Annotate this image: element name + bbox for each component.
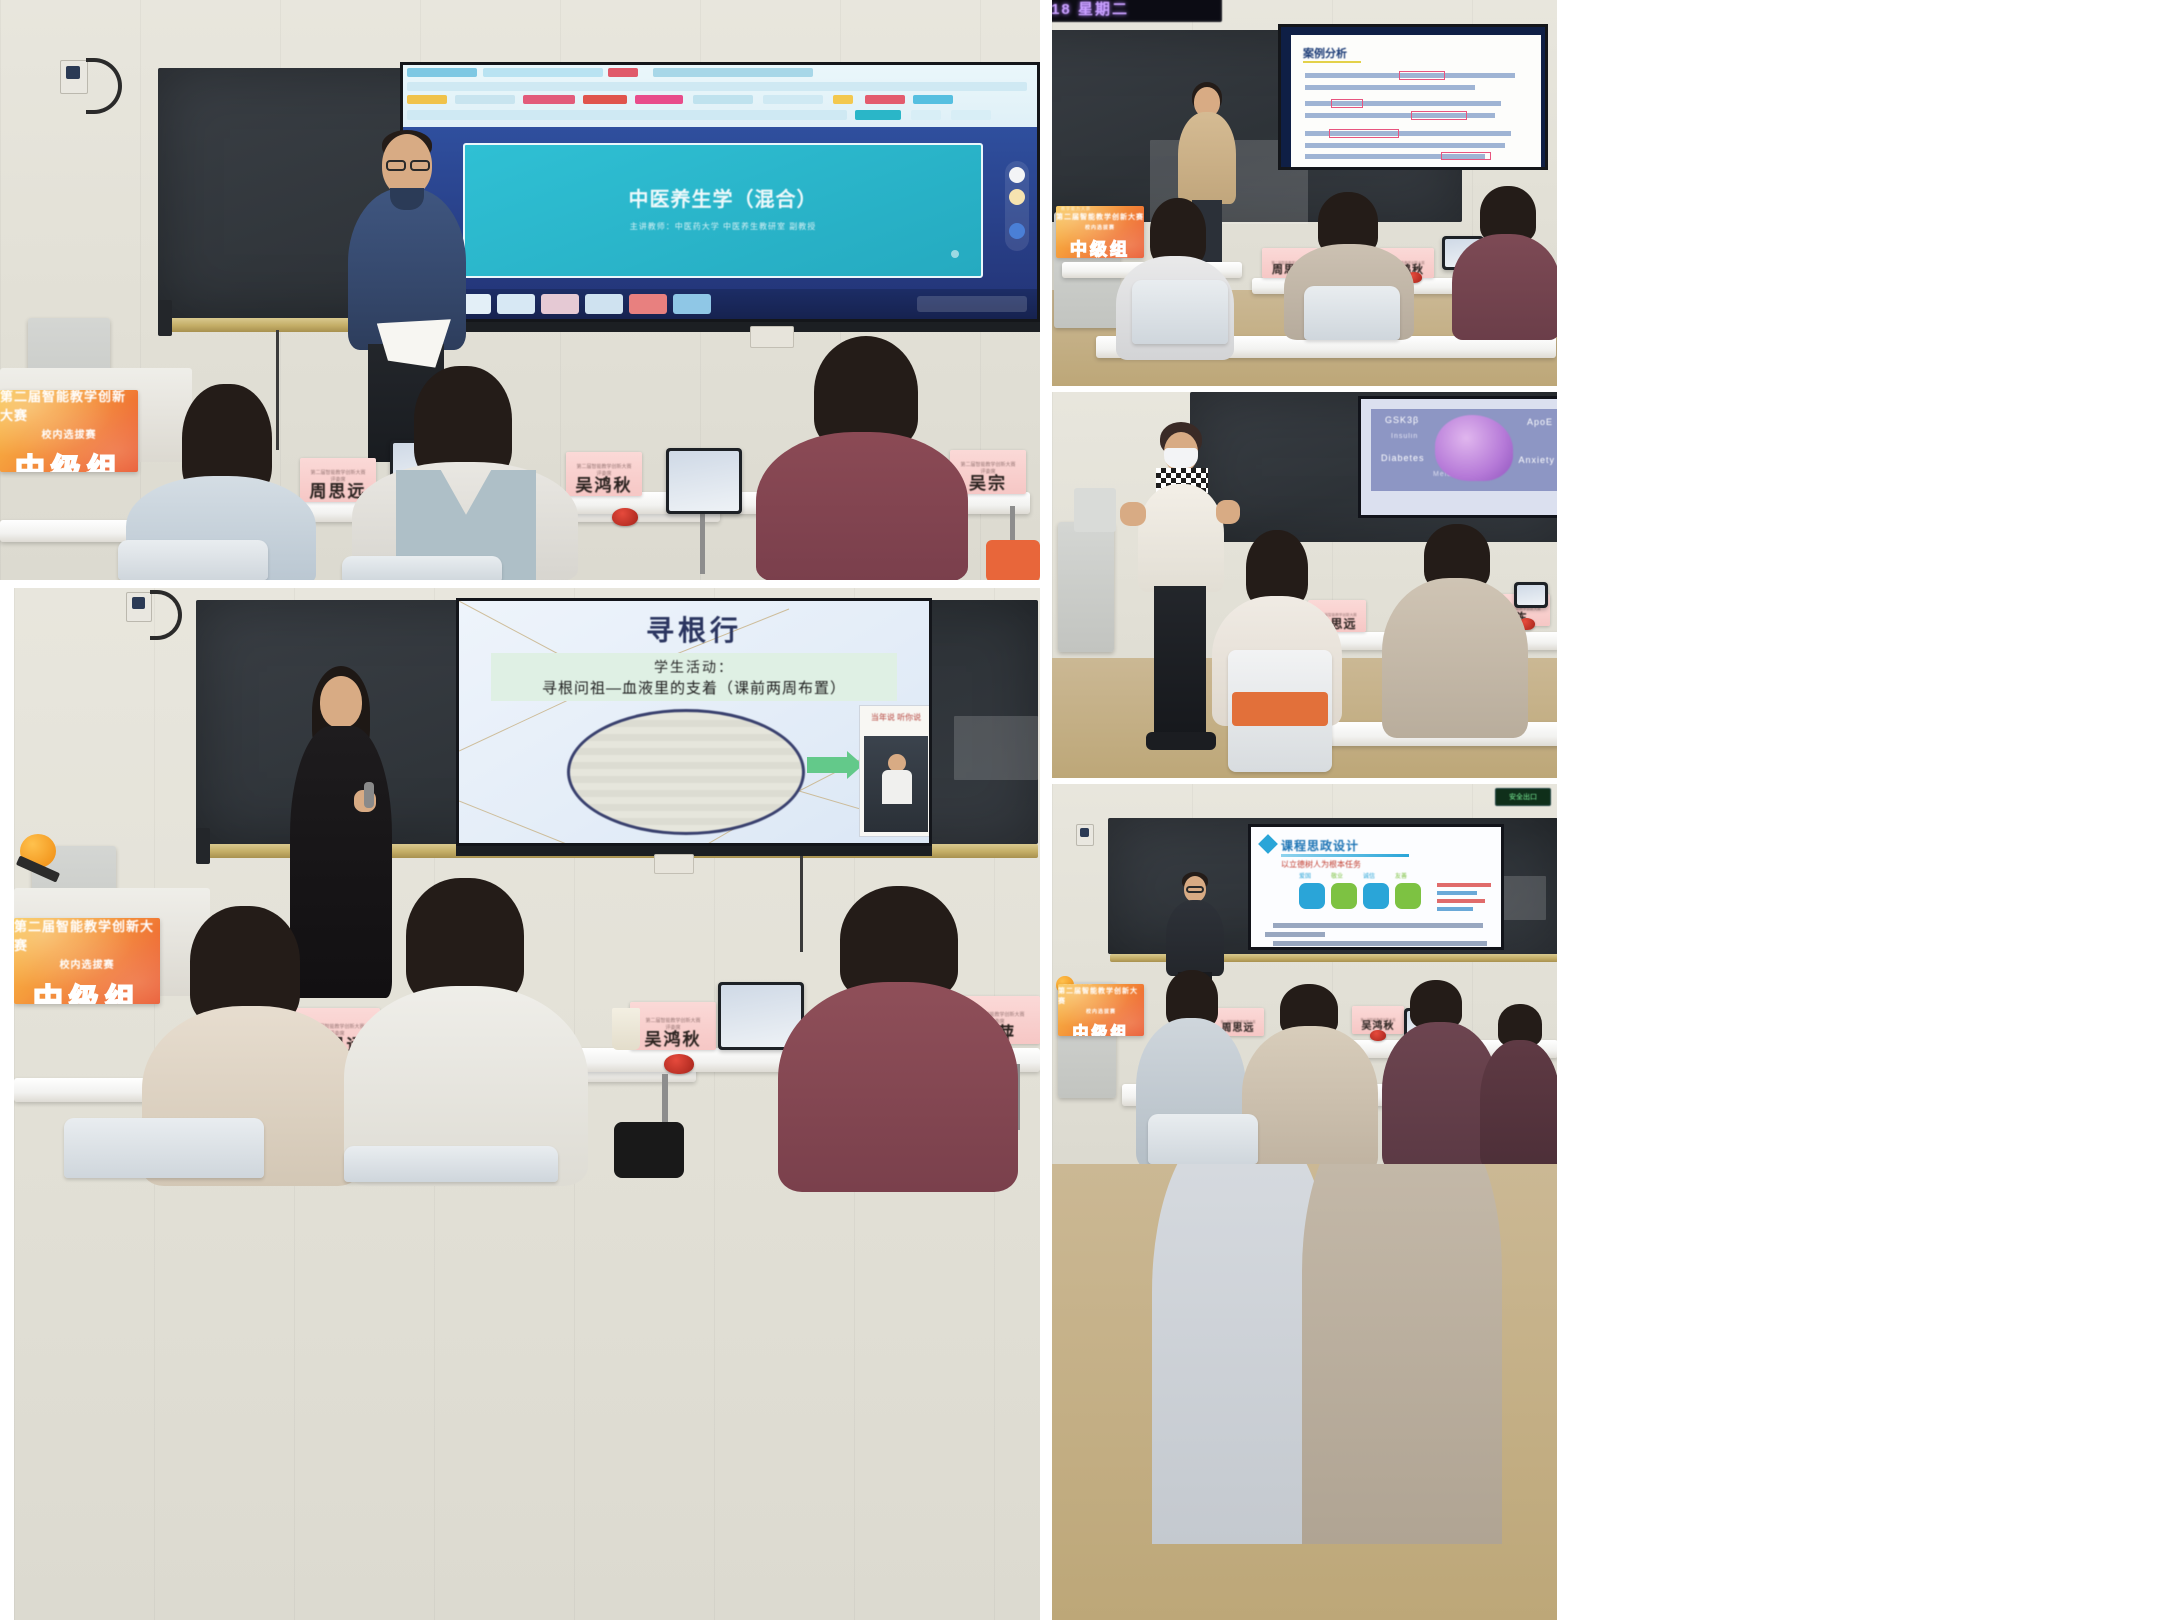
slide5-icon-1 xyxy=(1299,883,1325,909)
aud5-body-2 xyxy=(1242,1026,1378,1164)
desk-leg xyxy=(700,514,705,574)
banner4-group-label: 中级组 xyxy=(33,975,141,1004)
slide-paper-2: 案例分析 xyxy=(1291,35,1541,167)
magnifier-wordcloud-icon xyxy=(567,709,805,835)
slide5-icon-4 xyxy=(1395,883,1421,909)
brain-label-diabetes: Diabetes xyxy=(1381,453,1425,463)
banner-line-1: 第二届智能教学创新大赛 xyxy=(0,390,138,424)
chair-4-2[interactable] xyxy=(344,1146,558,1182)
presenter5-glasses-icon xyxy=(1186,886,1204,893)
tablet-device-2[interactable] xyxy=(666,448,742,514)
slide5-bullet-icon xyxy=(1258,834,1278,854)
tablet-screen-2 xyxy=(669,451,739,511)
presenter3-hand-right xyxy=(1216,500,1240,524)
board-edge-bracket xyxy=(158,300,172,336)
face-mask-icon xyxy=(1164,448,1198,468)
screen-side-toolbar[interactable] xyxy=(1005,161,1029,251)
competition-banner-4: 教学能力大赛 第二届智能教学创新大赛 校内选拔赛 中级组 xyxy=(14,918,160,1004)
banner5-group-label: 中级组 xyxy=(1072,1019,1129,1037)
namecard-name-3: 吴宗 xyxy=(969,475,1007,492)
banner2-line-1: 第二届智能教学创新大赛 xyxy=(1056,212,1144,222)
chair-4-1[interactable] xyxy=(64,1118,264,1178)
namecard-sub-3: 第二届智能教学创新大赛 xyxy=(960,461,1015,468)
banner5-line-2: 校内选拔赛 xyxy=(1086,1008,1116,1015)
slide-title: 中医养生学（混合） xyxy=(465,183,981,212)
chair-3-orange-cushion xyxy=(1232,692,1328,726)
slide-page-dot xyxy=(951,250,959,258)
audience-member-5-4 xyxy=(1480,1004,1557,1164)
banner4-line-2: 校内选拔赛 xyxy=(60,956,115,971)
presenter2-coat xyxy=(1178,112,1236,204)
browser-toolbar[interactable] xyxy=(403,65,1037,127)
banner2-group-label: 中级组 xyxy=(1070,235,1130,258)
camera-lens-icon-4 xyxy=(132,597,145,609)
aud4-body-3 xyxy=(778,982,1018,1192)
chair-2[interactable] xyxy=(342,556,502,580)
namecard4b-sub: 第二届智能教学创新大赛 xyxy=(645,1017,700,1024)
exit-sign: 安全出口 xyxy=(1495,788,1551,806)
aud5-body-4 xyxy=(1480,1040,1557,1164)
panel-right-top: 2022-01-18 星期二 案例分析 xyxy=(1052,0,1557,386)
presenter3-shoes xyxy=(1146,732,1216,750)
screen-taskbar[interactable] xyxy=(403,289,1037,319)
projection-screen-3[interactable]: GSK3β Insulin Diabetes ApoE Anxiety Mela… xyxy=(1358,396,1557,518)
slide5-icon-label-2: 敬业 xyxy=(1331,871,1343,880)
brain-label-insulin: Insulin xyxy=(1391,433,1418,440)
namecard-sub-2: 第二届智能教学创新大赛 xyxy=(576,463,631,470)
panel-bottom-left: 寻根行 学生活动： 寻根问祖—血液里的支着（课前两周布置） 当年说 听你说 xyxy=(14,588,1040,1620)
audience-body-3 xyxy=(756,432,968,580)
brain-graphic-icon xyxy=(1435,415,1513,481)
slide4-header: 寻根行 xyxy=(459,609,929,649)
slide-4: 寻根行 学生活动： 寻根问祖—血液里的支着（课前两周布置） 当年说 听你说 xyxy=(459,601,929,843)
aud5-body-6 xyxy=(1302,1164,1502,1544)
brain-label-apoe: ApoE xyxy=(1527,417,1553,427)
paper-cup xyxy=(612,1008,640,1050)
wall-outlet-4 xyxy=(654,854,694,874)
projection-screen-5[interactable]: 课程思政设计 以立德树人为根本任务 爱国 敬业 诚信 友善 xyxy=(1248,824,1504,950)
presenter3-legs xyxy=(1154,586,1206,738)
slide-5: 课程思政设计 以立德树人为根本任务 爱国 敬业 诚信 友善 xyxy=(1251,827,1501,947)
chair-2-1[interactable] xyxy=(1132,280,1228,344)
banner-group-label: 中级组 xyxy=(15,445,123,472)
chair-5-1[interactable] xyxy=(1148,1114,1258,1164)
brain-label-anxiety: Anxiety xyxy=(1518,455,1555,465)
slide4-line-1: 学生活动： xyxy=(459,657,929,677)
camera-lens-icon-5 xyxy=(1080,828,1089,837)
slide4-video-caption: 当年说 听你说 xyxy=(860,712,929,723)
screen-bottom-bezel xyxy=(400,322,1040,332)
panel-top-left: 中医养生学（混合） 主讲教师：中医药大学 中医养生教研室 副教授 xyxy=(0,0,1040,580)
audience-member-4-2 xyxy=(344,878,588,1178)
chair-2-2[interactable] xyxy=(1304,286,1400,340)
audience-member-2-3 xyxy=(1452,186,1557,336)
slide-subtitle: 主讲教师：中医药大学 中医养生教研室 副教授 xyxy=(465,221,981,232)
presenter3-hand-left xyxy=(1120,502,1146,526)
audience-member-5-2 xyxy=(1242,984,1378,1164)
board-edge-bracket-4 xyxy=(196,828,210,864)
banner4-line-1: 第二届智能教学创新大赛 xyxy=(14,918,160,954)
namecard4b-name: 吴鸿秋 xyxy=(645,1031,702,1048)
aud3-body-2 xyxy=(1382,578,1528,738)
green-arrow-icon xyxy=(807,757,851,773)
presenter-collar xyxy=(390,188,424,210)
audience-member-3 xyxy=(756,336,968,580)
audience-member-3-2 xyxy=(1382,524,1528,734)
display-slide: 中医养生学（混合） 主讲教师：中医药大学 中医养生教研室 副教授 xyxy=(403,65,1037,319)
orange-bag xyxy=(986,540,1040,580)
brain-label-gsk3b: GSK3β xyxy=(1385,415,1419,425)
slide2-title: 案例分析 xyxy=(1303,45,1347,61)
equipment-cabinet-3 xyxy=(1058,522,1114,652)
aud5-hair-3 xyxy=(1410,980,1462,1028)
panel-right-bottom-lower xyxy=(1052,1164,1557,1620)
wireless-mouse-4[interactable] xyxy=(664,1054,694,1074)
smart-display-screen[interactable]: 中医养生学（混合） 主讲教师：中医药大学 中医养生教研室 副教授 xyxy=(400,62,1040,322)
banner5-line-1: 第二届智能教学创新大赛 xyxy=(1058,986,1144,1006)
slide5-icon-3 xyxy=(1363,883,1389,909)
ppt-slide-cyan: 中医养生学（混合） 主讲教师：中医药大学 中医养生教研室 副教授 xyxy=(463,143,983,278)
audience-member-4-3 xyxy=(778,886,1018,1186)
aud2-body-3 xyxy=(1452,234,1557,340)
handheld-microphone-icon[interactable] xyxy=(364,782,374,808)
slide5-icon-label-4: 友善 xyxy=(1395,871,1407,880)
competition-banner-5: 教学能力大赛 第二届智能教学创新大赛 校内选拔赛 中级组 xyxy=(1058,984,1144,1036)
slide4-line-2: 寻根问祖—血液里的支着（课前两周布置） xyxy=(459,677,929,698)
banner2-line-2: 校内选拔赛 xyxy=(1085,224,1115,231)
slide5-icon-2 xyxy=(1331,883,1357,909)
blackboard-smudge-4 xyxy=(954,716,1038,780)
slide5-title-underline xyxy=(1281,854,1409,857)
audience-member-5-6 xyxy=(1302,1164,1502,1544)
projection-screen-4[interactable]: 寻根行 学生活动： 寻根问祖—血液里的支着（课前两周布置） 当年说 听你说 xyxy=(456,598,932,846)
pc-tower xyxy=(1074,488,1116,532)
screen-bottom-bezel-4 xyxy=(456,846,932,856)
presenter5-jacket xyxy=(1166,900,1224,976)
presenter-glasses-icon xyxy=(386,160,406,171)
audience-member-2 xyxy=(352,366,578,580)
projection-screen-2[interactable]: 案例分析 xyxy=(1278,24,1548,170)
slide5-icon-label-1: 爱国 xyxy=(1299,871,1311,880)
photo-collage: 中医养生学（混合） 主讲教师：中医药大学 中医养生教研室 副教授 xyxy=(0,0,2160,1620)
slide5-icon-label-3: 诚信 xyxy=(1363,871,1375,880)
slide5-subtitle: 以立德树人为根本任务 xyxy=(1281,859,1361,870)
chair-1[interactable] xyxy=(118,540,268,580)
presenter4-head xyxy=(320,676,362,728)
led-date-display: 2022-01-18 星期二 xyxy=(1052,0,1222,22)
banner-line-2: 校内选拔赛 xyxy=(42,426,97,441)
panel-right-middle: GSK3β Insulin Diabetes ApoE Anxiety Mela… xyxy=(1052,392,1557,778)
brain-slide: GSK3β Insulin Diabetes ApoE Anxiety Mela… xyxy=(1371,409,1557,491)
namecard-name-2: 吴鸿秋 xyxy=(576,477,633,494)
video-thumbnail[interactable]: 当年说 听你说 xyxy=(859,705,929,837)
panel-right-bottom-visible: 安全出口 课程思政设计 以立德树人为根本任务 爱国 敬业 诚信 友善 xyxy=(1052,784,1557,1164)
competition-banner: 教学能力大赛 第二届智能教学创新大赛 校内选拔赛 中级组 xyxy=(0,390,138,472)
camera-lens-icon xyxy=(66,66,80,79)
namecard-4-2: 第二届智能教学创新大赛 评委席 吴鸿秋 xyxy=(630,1002,716,1050)
black-bag xyxy=(614,1122,684,1178)
wireless-mouse-1[interactable] xyxy=(612,508,638,526)
slide5-title: 课程思政设计 xyxy=(1281,837,1359,854)
presenter-glasses-icon-right xyxy=(410,160,430,171)
